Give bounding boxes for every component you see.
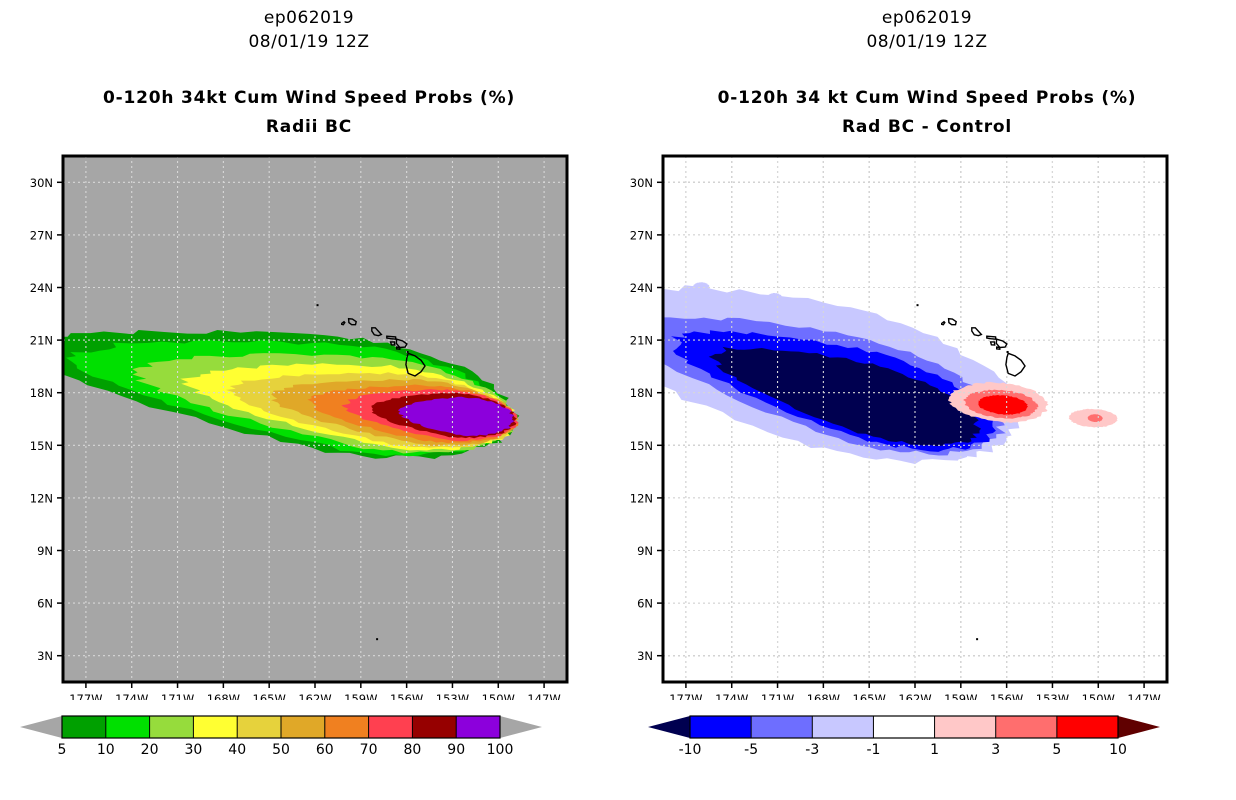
islet-marker-0 (317, 304, 319, 306)
colorbar-tick-label: 10 (97, 742, 115, 758)
x-tick-label: 150W (1082, 692, 1115, 700)
y-tick-label: 30N (630, 176, 653, 190)
colorbar-segment-0[interactable] (690, 716, 752, 738)
x-tick-label: 159W (944, 692, 977, 700)
panel-left-storm-id: ep062019 (0, 8, 618, 28)
colorbar-tick-label: -10 (679, 742, 702, 758)
y-tick-label: 24N (630, 281, 653, 295)
colorbar-left: 5102030405060708090100 (0, 706, 618, 766)
colorbar-tick-label: 3 (991, 742, 1000, 758)
y-tick-label: 6N (37, 597, 53, 611)
colorbar-under-cap (20, 716, 62, 738)
colorbar-segment-6[interactable] (325, 716, 369, 738)
y-tick-label: 9N (37, 544, 53, 558)
x-tick-label: 174W (715, 692, 748, 700)
x-tick-label: 147W (1127, 692, 1160, 700)
y-axis-labels-right: 30N27N24N21N18N15N12N9N6N3N (630, 176, 653, 663)
y-tick-label: 6N (637, 597, 653, 611)
x-tick-label: 153W (436, 692, 469, 700)
colorbar-segment-6[interactable] (1057, 716, 1119, 738)
colorbar-segment-3[interactable] (193, 716, 237, 738)
colorbar-tick-label: -1 (866, 742, 880, 758)
colorbar-tick-label: -3 (805, 742, 819, 758)
y-tick-label: 21N (630, 334, 653, 348)
x-tick-label: 177W (669, 692, 702, 700)
islet-marker-2 (376, 638, 378, 640)
colorbar-tick-label: 60 (316, 742, 334, 758)
colorbar-segment-2[interactable] (150, 716, 194, 738)
colorbar-tick-label: 100 (487, 742, 514, 758)
colorbar-segment-5[interactable] (281, 716, 325, 738)
x-tick-label: 165W (253, 692, 286, 700)
colorbar-segment-3[interactable] (873, 716, 935, 738)
x-tick-label: 177W (69, 692, 102, 700)
x-tick-label: 162W (898, 692, 931, 700)
plot-area-left: 177W174W171W168W165W162W159W156W153W150W… (0, 140, 618, 700)
x-tick-label: 153W (1036, 692, 1069, 700)
colorbar-tick-label: 5 (58, 742, 67, 758)
x-tick-label: 171W (161, 692, 194, 700)
y-tick-label: 27N (630, 228, 653, 242)
colorbar-tick-label: -5 (744, 742, 758, 758)
x-tick-label: 150W (482, 692, 515, 700)
colorbar-tick-label: 70 (360, 742, 378, 758)
colorbar-segment-8[interactable] (412, 716, 456, 738)
colorbar-under-cap (648, 716, 690, 738)
colorbar-segment-0[interactable] (62, 716, 106, 738)
panel-right-datetime: 08/01/19 12Z (618, 32, 1236, 52)
x-tick-label: 156W (990, 692, 1023, 700)
panel-left-datetime: 08/01/19 12Z (0, 32, 618, 52)
x-tick-label: 168W (207, 692, 240, 700)
colorbar-segment-1[interactable] (751, 716, 813, 738)
x-tick-label: 162W (298, 692, 331, 700)
panel-rad-bc-minus-control: ep062019 08/01/19 12Z 0-120h 34 kt Cum W… (618, 0, 1236, 800)
islet-marker-0 (917, 304, 919, 306)
colorbar-over-cap (1118, 716, 1160, 738)
x-tick-label: 156W (390, 692, 423, 700)
y-tick-label: 24N (30, 281, 53, 295)
panel-right-storm-id: ep062019 (618, 8, 1236, 28)
y-tick-label: 27N (30, 228, 53, 242)
plot-area-right: 177W174W171W168W165W162W159W156W153W150W… (618, 140, 1236, 700)
y-tick-label: 9N (637, 544, 653, 558)
colorbar-segment-2[interactable] (812, 716, 874, 738)
colorbar-segment-9[interactable] (456, 716, 500, 738)
y-tick-label: 21N (30, 334, 53, 348)
x-tick-label: 159W (344, 692, 377, 700)
x-axis-labels-left: 177W174W171W168W165W162W159W156W153W150W… (69, 692, 561, 700)
colorbar-tick-label: 20 (141, 742, 159, 758)
colorbar-tick-label: 30 (184, 742, 202, 758)
colorbar-tick-label: 1 (930, 742, 939, 758)
y-tick-label: 3N (37, 649, 53, 663)
y-tick-label: 12N (30, 491, 53, 505)
y-axis-labels-left: 30N27N24N21N18N15N12N9N6N3N (30, 176, 53, 663)
colorbar-segment-7[interactable] (369, 716, 413, 738)
colorbar-segment-4[interactable] (935, 716, 997, 738)
y-tick-label: 3N (637, 649, 653, 663)
colorbar-segment-1[interactable] (106, 716, 150, 738)
colorbar-tick-label: 40 (228, 742, 246, 758)
islet-marker-2 (976, 638, 978, 640)
colorbar-tick-label: 90 (447, 742, 465, 758)
colorbar-segment-5[interactable] (996, 716, 1058, 738)
y-tick-label: 12N (630, 491, 653, 505)
panel-right-subtitle: Rad BC - Control (618, 117, 1236, 137)
colorbar-right: -10-5-3-113510 (618, 706, 1236, 766)
panel-left-title: 0-120h 34kt Cum Wind Speed Probs (%) (0, 88, 618, 108)
colorbar-tick-label: 10 (1109, 742, 1127, 758)
colorbar-tick-label: 80 (403, 742, 421, 758)
panel-radii-bc: ep062019 08/01/19 12Z 0-120h 34kt Cum Wi… (0, 0, 618, 800)
islet-marker-1 (1007, 351, 1009, 353)
x-tick-label: 171W (761, 692, 794, 700)
islet-marker-1 (407, 351, 409, 353)
y-tick-label: 15N (630, 439, 653, 453)
x-axis-labels-right: 177W174W171W168W165W162W159W156W153W150W… (669, 692, 1161, 700)
y-tick-label: 15N (30, 439, 53, 453)
y-tick-label: 18N (630, 386, 653, 400)
colorbar-over-cap (500, 716, 542, 738)
x-tick-label: 174W (115, 692, 148, 700)
y-tick-label: 18N (30, 386, 53, 400)
x-tick-label: 165W (853, 692, 886, 700)
colorbar-segment-4[interactable] (237, 716, 281, 738)
panel-right-title: 0-120h 34 kt Cum Wind Speed Probs (%) (618, 88, 1236, 108)
x-tick-label: 168W (807, 692, 840, 700)
colorbar-tick-label: 5 (1052, 742, 1061, 758)
figure-root: ep062019 08/01/19 12Z 0-120h 34kt Cum Wi… (0, 0, 1236, 800)
panel-left-subtitle: Radii BC (0, 117, 618, 137)
x-tick-label: 147W (527, 692, 560, 700)
y-tick-label: 30N (30, 176, 53, 190)
colorbar-tick-label: 50 (272, 742, 290, 758)
